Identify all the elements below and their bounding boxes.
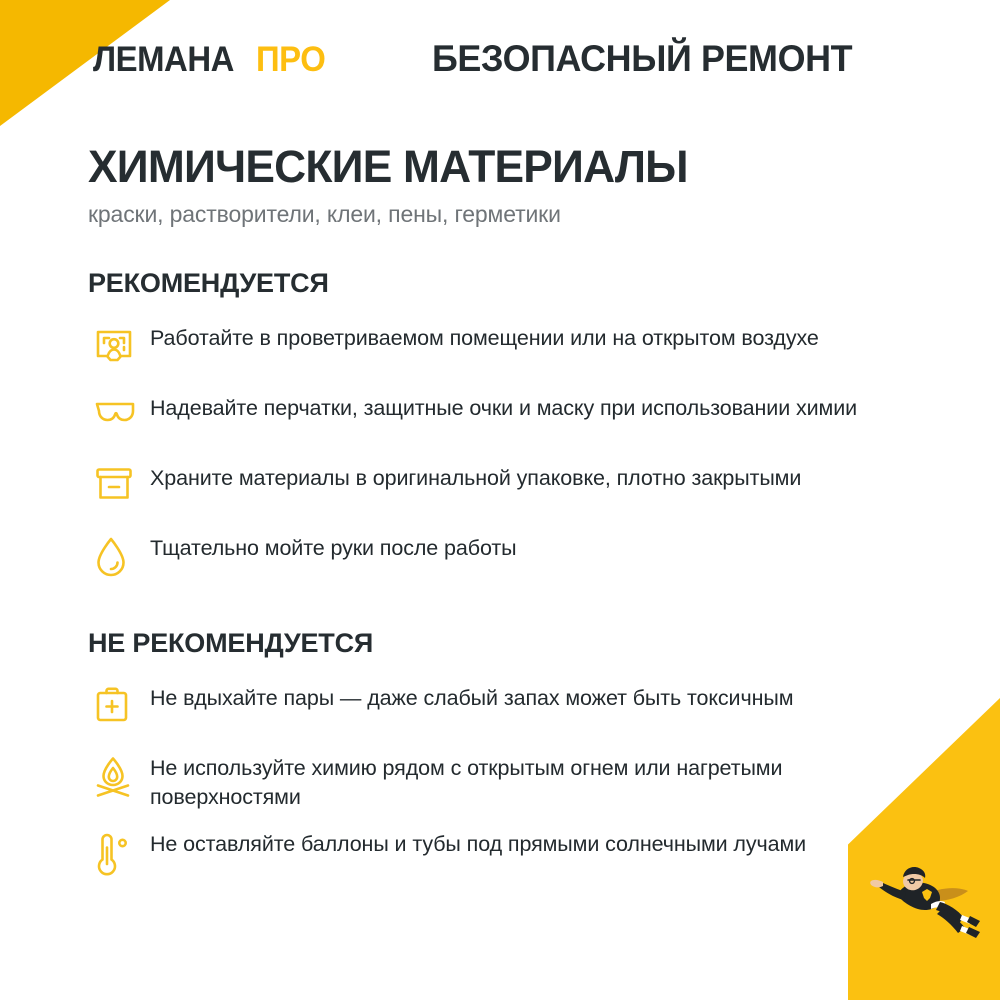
title-block: ХИМИЧЕСКИЕ МАТЕРИАЛЫ краски, растворител… xyxy=(88,143,948,228)
page-header: ЛЕМАНА ПРО БЕЗОПАСНЫЙ РЕМОНТ xyxy=(0,40,1000,90)
list-item: Работайте в проветриваемом помещении или… xyxy=(88,323,968,375)
ventilated-room-icon xyxy=(88,323,150,375)
list-item-text: Тщательно мойте руки после работы xyxy=(150,533,910,563)
list-item: Храните материалы в оригинальной упаковк… xyxy=(88,463,968,515)
list-item: Не вдыхайте пары — даже слабый запах мож… xyxy=(88,683,968,735)
first-aid-kit-icon xyxy=(88,683,150,735)
list-item-text: Работайте в проветриваемом помещении или… xyxy=(150,323,910,353)
water-drop-icon xyxy=(88,533,150,585)
safety-goggles-icon xyxy=(88,393,150,445)
campfire-flame-icon xyxy=(88,753,150,805)
section-recommended: РЕКОМЕНДУЕТСЯ Работайте в проветриваемом… xyxy=(88,268,968,599)
list-item-text: Храните материалы в оригинальной упаковк… xyxy=(150,463,910,493)
not-recommended-item-list: Не вдыхайте пары — даже слабый запах мож… xyxy=(88,683,968,881)
section-not-recommended: НЕ РЕКОМЕНДУЕТСЯ Не вдыхайте пары — даже… xyxy=(88,628,968,895)
section-heading-recommended: РЕКОМЕНДУЕТСЯ xyxy=(88,268,968,299)
thermometer-icon xyxy=(88,829,150,881)
logo-text-lemana: ЛЕМАНА xyxy=(93,40,234,80)
list-item-text: Не вдыхайте пары — даже слабый запах мож… xyxy=(150,683,910,713)
flying-superhero-mascot xyxy=(852,856,984,956)
list-item-text: Не используйте химию рядом с открытым ог… xyxy=(150,753,910,811)
list-item: Не используйте химию рядом с открытым ог… xyxy=(88,753,968,811)
page-subtitle: краски, растворители, клеи, пены, гермет… xyxy=(88,201,948,228)
list-item-text: Надевайте перчатки, защитные очки и маск… xyxy=(150,393,910,423)
list-item-text: Не оставляйте баллоны и тубы под прямыми… xyxy=(150,829,910,859)
recommended-item-list: Работайте в проветриваемом помещении или… xyxy=(88,323,968,585)
list-item: Тщательно мойте руки после работы xyxy=(88,533,968,585)
page-title: ХИМИЧЕСКИЕ МАТЕРИАЛЫ xyxy=(88,143,935,191)
list-item: Не оставляйте баллоны и тубы под прямыми… xyxy=(88,829,968,881)
storage-box-icon xyxy=(88,463,150,515)
section-heading-not-recommended: НЕ РЕКОМЕНДУЕТСЯ xyxy=(88,628,968,659)
campaign-title: БЕЗОПАСНЫЙ РЕМОНТ xyxy=(432,38,852,80)
logo-text-pro: ПРО xyxy=(256,40,325,80)
list-item: Надевайте перчатки, защитные очки и маск… xyxy=(88,393,968,445)
brand-logo: ЛЕМАНА ПРО xyxy=(93,40,330,80)
